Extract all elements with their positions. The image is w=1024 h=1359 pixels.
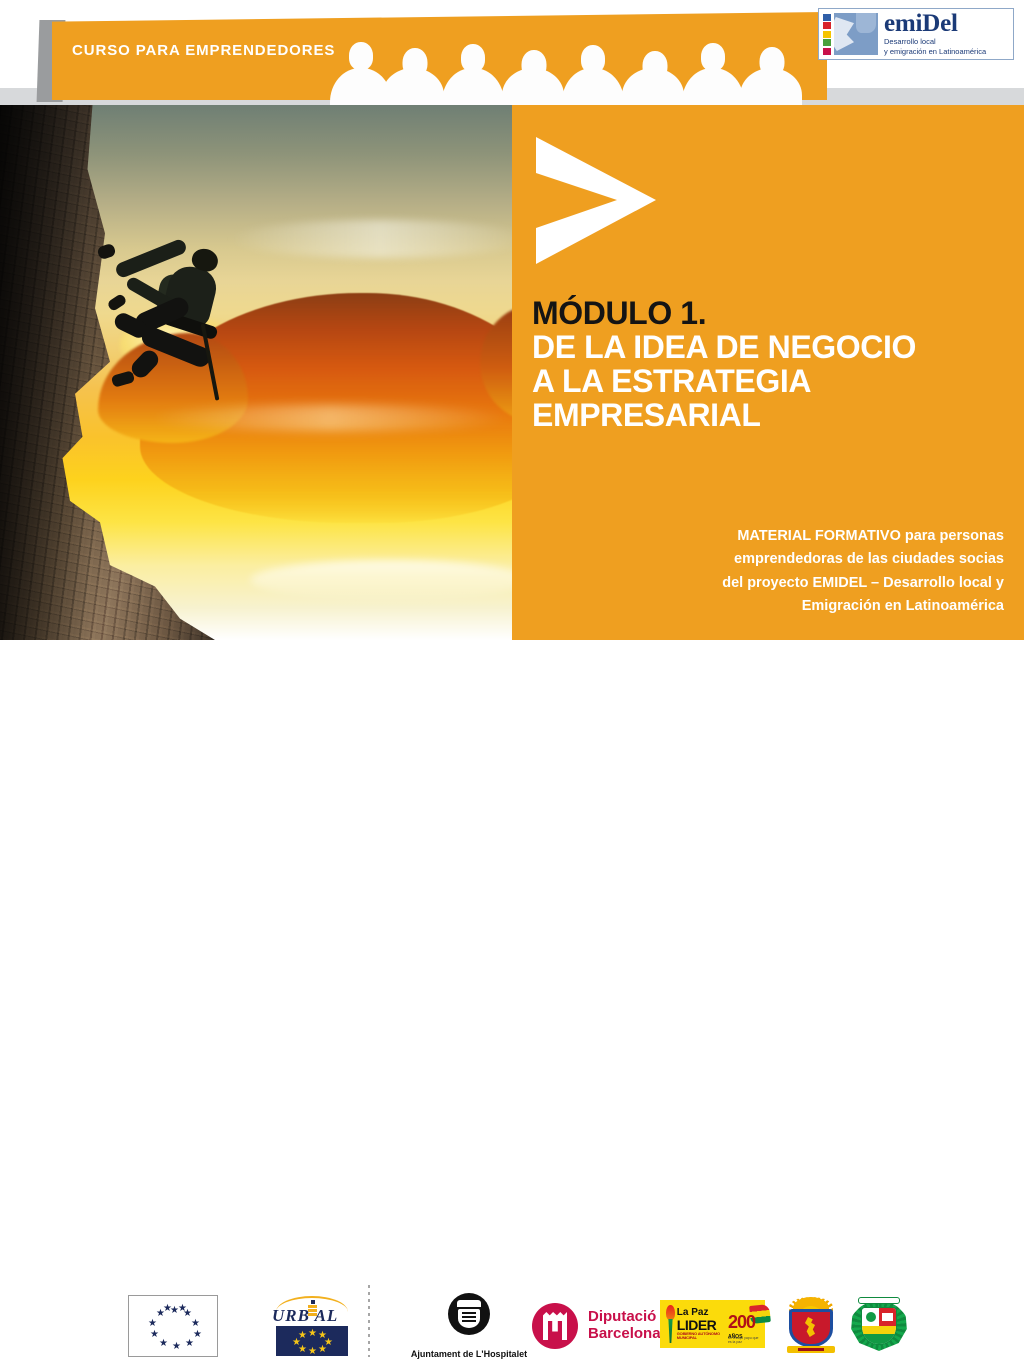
hospitalet-crest-icon xyxy=(448,1293,490,1335)
urb-al-logo: URB AL ★ ★ ★ ★ ★ ★ ★ ★ xyxy=(272,1292,352,1356)
module-title-line-4: EMPRESARIAL xyxy=(532,399,1010,433)
climber-photo xyxy=(0,105,512,640)
red-shield-crest-icon xyxy=(785,1297,837,1353)
footer-dotted-divider xyxy=(368,1285,370,1357)
urb-al-dot xyxy=(311,1300,315,1304)
la-paz-wordmark: La Paz LIDER GOBIERNO AUTÓNOMO MUNICIPAL xyxy=(677,1308,725,1340)
urb-al-eu-flag: ★ ★ ★ ★ ★ ★ ★ ★ xyxy=(276,1326,348,1356)
bicentennial-mark: 200 AÑOS un chuqui yapu que es la paz xyxy=(728,1304,761,1344)
person-silhouette xyxy=(622,51,688,110)
poster-page: CURSO PARA EMPRENDEDORES emiDel Desarr xyxy=(0,0,1024,721)
crest-green-wreath-logo xyxy=(850,1297,908,1353)
rock-shadow xyxy=(0,105,90,640)
green-wreath-crest-icon xyxy=(850,1297,908,1353)
la-paz-line-3: GOBIERNO AUTÓNOMO MUNICIPAL xyxy=(677,1332,725,1340)
person-silhouette xyxy=(502,50,566,110)
module-title-line-1: MÓDULO 1. xyxy=(532,297,1010,331)
climber-foot xyxy=(106,293,127,312)
partner-logos-footer: ★ ★ ★ ★ ★ ★ ★ ★ ★ ★ ★ ★ U xyxy=(0,640,1024,721)
person-silhouette xyxy=(682,43,744,110)
emidel-logo: emiDel Desarrollo local y emigración en … xyxy=(818,8,1014,60)
european-union-logo: ★ ★ ★ ★ ★ ★ ★ ★ ★ ★ ★ ★ xyxy=(128,1295,218,1357)
emidel-tagline-line1: Desarrollo local xyxy=(884,37,986,46)
climber-silhouette xyxy=(96,245,276,420)
crest-quarter-lower xyxy=(862,1326,896,1344)
emidel-tagline-line2: y emigración en Latinoamérica xyxy=(884,47,986,56)
hospitalet-label: Ajuntament de L'Hospitalet xyxy=(394,1349,544,1359)
la-paz-mark: La Paz LIDER GOBIERNO AUTÓNOMO MUNICIPAL… xyxy=(660,1300,765,1348)
building-icon xyxy=(879,1308,896,1326)
urb-al-mark: URB AL ★ ★ ★ ★ ★ ★ ★ ★ xyxy=(272,1292,352,1356)
hospitalet-mark: Ajuntament de L'Hospitalet xyxy=(394,1293,544,1359)
tree-icon xyxy=(862,1308,879,1326)
torch-icon xyxy=(664,1305,674,1343)
person-silhouette xyxy=(382,48,448,110)
la-paz-line-1: La Paz xyxy=(677,1308,725,1318)
material-description: MATERIAL FORMATIVO para personas emprend… xyxy=(584,525,1004,619)
emidel-wordmark-group: emiDel Desarrollo local y emigración en … xyxy=(884,12,986,57)
module-title: MÓDULO 1. DE LA IDEA DE NEGOCIO A LA EST… xyxy=(532,297,1010,433)
ajuntament-hospitalet-logo: Ajuntament de L'Hospitalet xyxy=(394,1293,544,1359)
crest-ribbon xyxy=(787,1346,835,1353)
cloud-low-haze xyxy=(250,560,512,600)
people-silhouettes xyxy=(330,20,830,110)
la-paz-line-2: LIDER xyxy=(677,1318,725,1332)
latin-america-map-icon xyxy=(834,13,878,55)
emidel-color-swatches xyxy=(823,14,831,55)
eu-stars: ★ ★ ★ ★ ★ ★ ★ ★ ★ ★ ★ ★ xyxy=(129,1296,217,1356)
description-line-4: Emigración en Latinoamérica xyxy=(584,595,1004,618)
diputacio-wordmark: Diputació Barcelona xyxy=(588,1309,661,1343)
course-label: CURSO PARA EMPRENDEDORES xyxy=(72,42,335,59)
bicentennial-number: 200 xyxy=(728,1312,755,1333)
urb-al-bars xyxy=(308,1305,317,1317)
person-silhouette xyxy=(442,44,504,110)
bicentennial-subcaption: un chuqui yapu que es la paz xyxy=(728,1336,761,1344)
hospitalet-crest-bars xyxy=(462,1312,476,1325)
module-title-line-3: A LA ESTRATEGIA xyxy=(532,365,1010,399)
description-line-3: del proyecto EMIDEL – Desarrollo local y xyxy=(584,572,1004,595)
emidel-wordmark: emiDel xyxy=(884,12,986,36)
person-silhouette xyxy=(740,47,804,110)
climber-foot xyxy=(111,370,135,388)
crest-top-ribbon xyxy=(858,1297,900,1304)
description-line-2: emprendedoras de las ciudades socias xyxy=(584,548,1004,571)
header: CURSO PARA EMPRENDEDORES emiDel Desarr xyxy=(0,0,1024,110)
module-title-line-2: DE LA IDEA DE NEGOCIO xyxy=(532,331,1010,365)
eu-flag-box: ★ ★ ★ ★ ★ ★ ★ ★ ★ ★ ★ ★ xyxy=(128,1295,218,1357)
description-line-1: MATERIAL FORMATIVO para personas xyxy=(584,525,1004,548)
climber-hand xyxy=(96,243,116,261)
diputacio-line-1: Diputació xyxy=(588,1309,661,1326)
crest-shield xyxy=(861,1307,897,1345)
urb-al-wordmark: URB AL xyxy=(272,1306,338,1326)
diputacio-line-2: Barcelona xyxy=(588,1326,661,1343)
diputacio-crest-icon xyxy=(532,1303,578,1349)
la-paz-lider-logo: La Paz LIDER GOBIERNO AUTÓNOMO MUNICIPAL… xyxy=(660,1300,765,1348)
crest-red-shield-logo xyxy=(785,1297,837,1353)
title-panel: MÓDULO 1. DE LA IDEA DE NEGOCIO A LA EST… xyxy=(512,105,1024,640)
person-silhouette xyxy=(562,45,624,110)
chevron-right-icon xyxy=(532,133,672,268)
